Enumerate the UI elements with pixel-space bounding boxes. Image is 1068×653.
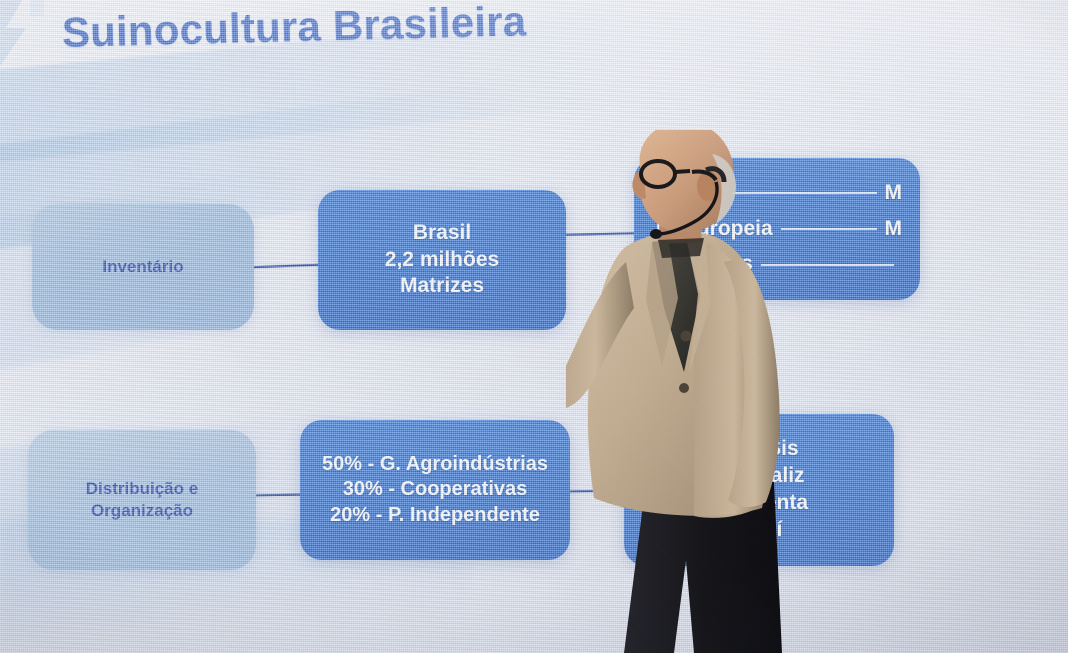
diagram-node-brasil: Brasil 2,2 milhões Matrizes: [318, 190, 566, 330]
connector-brasil-paises: [562, 232, 640, 236]
diagram-node-paises: China M U. Europeia M E. Unidos: [634, 158, 920, 300]
country-name: E. Unidos: [656, 251, 753, 278]
node-distribuicao-line2: Organização: [91, 500, 193, 522]
country-value: M: [885, 180, 903, 207]
slide-diagram: Suinocultura Brasileira Inventário Brasi…: [0, 0, 1068, 653]
node-sistema-line1: 80% Sis: [719, 436, 798, 463]
presentation-photo: Suinocultura Brasileira Inventário Brasi…: [0, 0, 1068, 653]
node-sistema-line3: segmenta: [710, 490, 808, 517]
node-percentuais-line3: 20% - P. Independente: [330, 503, 540, 529]
leader-line: [722, 192, 876, 194]
country-value: M: [885, 216, 903, 243]
node-sistema-line2: Verticaliz: [713, 463, 804, 490]
country-name: U. Europeia: [656, 216, 773, 243]
leader-line: [781, 228, 877, 230]
projection-screen: Suinocultura Brasileira Inventário Brasi…: [0, 0, 1068, 653]
connector-percentuais-sistema: [566, 489, 630, 492]
node-brasil-line3: Matrizes: [400, 273, 484, 300]
node-percentuais-line1: 50% - G. Agroindústrias: [322, 452, 548, 478]
diagram-node-sistema: 80% Sis Verticaliz segmenta 03 sí: [624, 414, 894, 566]
diagram-node-distribuicao: Distribuição e Organização: [28, 430, 256, 570]
leader-line: [761, 264, 894, 266]
connector-distribuicao-percentuais: [248, 493, 306, 496]
country-row: U. Europeia M: [656, 216, 902, 243]
node-sistema-line4: 03 sí: [736, 517, 783, 544]
slide-title: Suinocultura Brasileira: [61, 0, 526, 57]
node-percentuais-line2: 30% - Cooperativas: [343, 477, 528, 503]
node-distribuicao-line1: Distribuição e: [86, 478, 198, 500]
node-brasil-line1: Brasil: [413, 220, 471, 247]
connector-inventario-brasil: [248, 264, 324, 269]
country-row: China M: [656, 180, 902, 207]
node-brasil-line2: 2,2 milhões: [385, 247, 499, 274]
diagram-node-percentuais: 50% - G. Agroindústrias 30% - Cooperativ…: [300, 420, 570, 560]
country-list: China M U. Europeia M E. Unidos: [634, 158, 920, 300]
node-inventario-label: Inventário: [102, 256, 183, 278]
diagram-node-inventario: Inventário: [32, 204, 254, 330]
country-name: China: [656, 180, 714, 207]
country-row: E. Unidos: [656, 251, 902, 278]
